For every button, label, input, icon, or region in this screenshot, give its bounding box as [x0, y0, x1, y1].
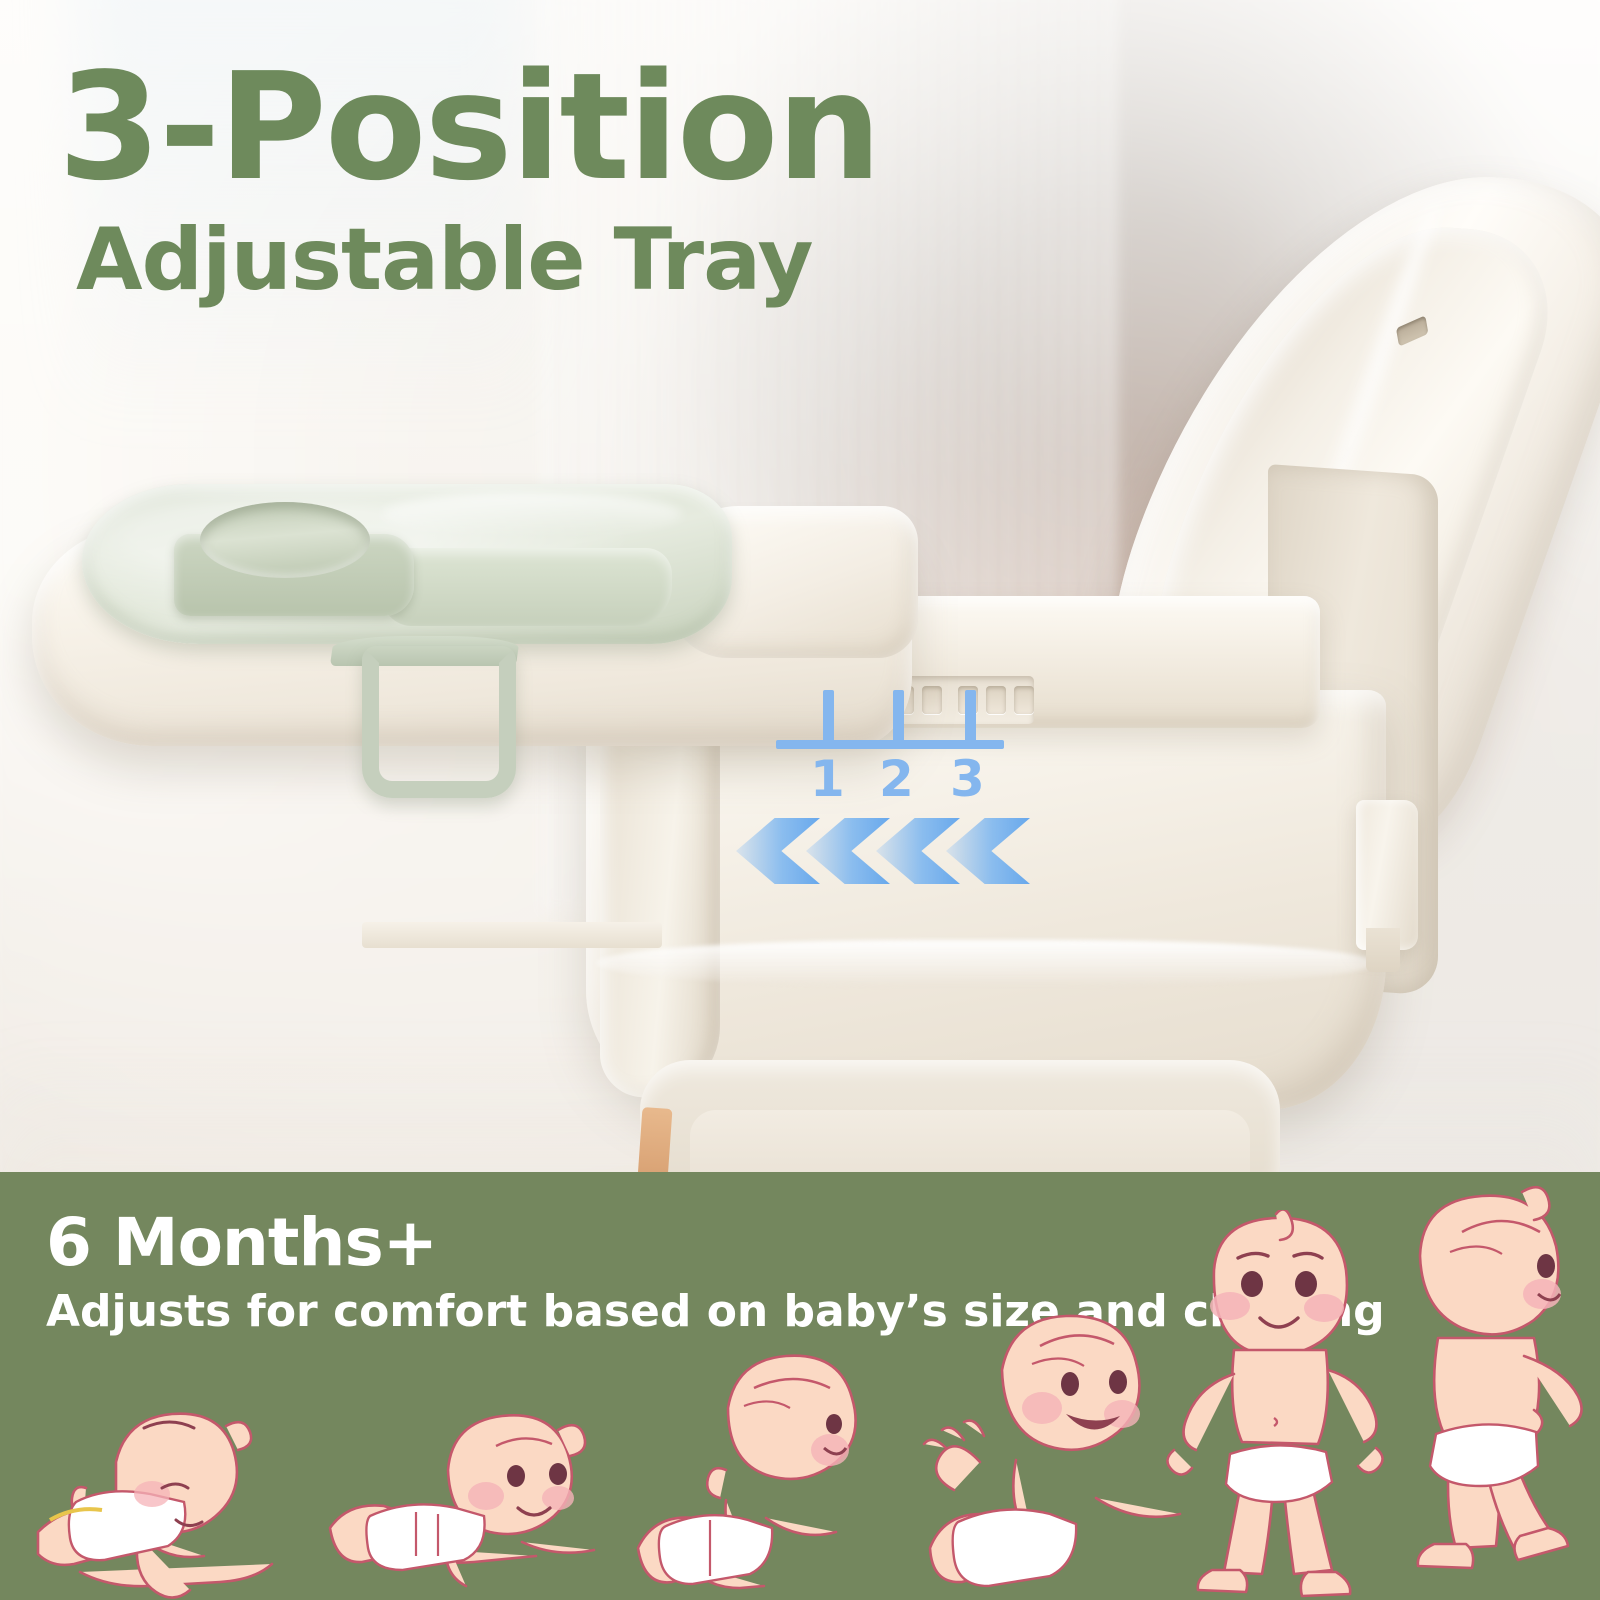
ruler-tick-2: [893, 690, 904, 748]
baby-stage-illustrations: [0, 1172, 1600, 1600]
position-label-3: 3: [950, 754, 985, 804]
ruler-tick-3: [965, 690, 976, 748]
baby-illustration-propped: [320, 1400, 610, 1600]
baby-illustration-standing: [1156, 1210, 1406, 1600]
product-feature-image: 3-Position Adjustable Tray: [0, 0, 1600, 1600]
baby-illustration-walking: [1392, 1184, 1600, 1584]
age-banner: 6 Months+ Adjusts for comfort based on b…: [0, 1172, 1600, 1600]
direction-chevron: [946, 818, 1030, 884]
ruler-tick-1: [823, 690, 834, 748]
baby-illustration-crawling: [618, 1350, 908, 1600]
position-label-1: 1: [810, 754, 845, 804]
position-label-2: 2: [879, 754, 914, 804]
headline-block: 3-Position Adjustable Tray: [58, 52, 880, 303]
headline-secondary: Adjustable Tray: [76, 217, 880, 303]
headline-primary: 3-Position: [58, 52, 880, 203]
baby-illustration-sitting: [906, 1310, 1196, 1600]
baby-illustration-lying: [20, 1384, 310, 1600]
